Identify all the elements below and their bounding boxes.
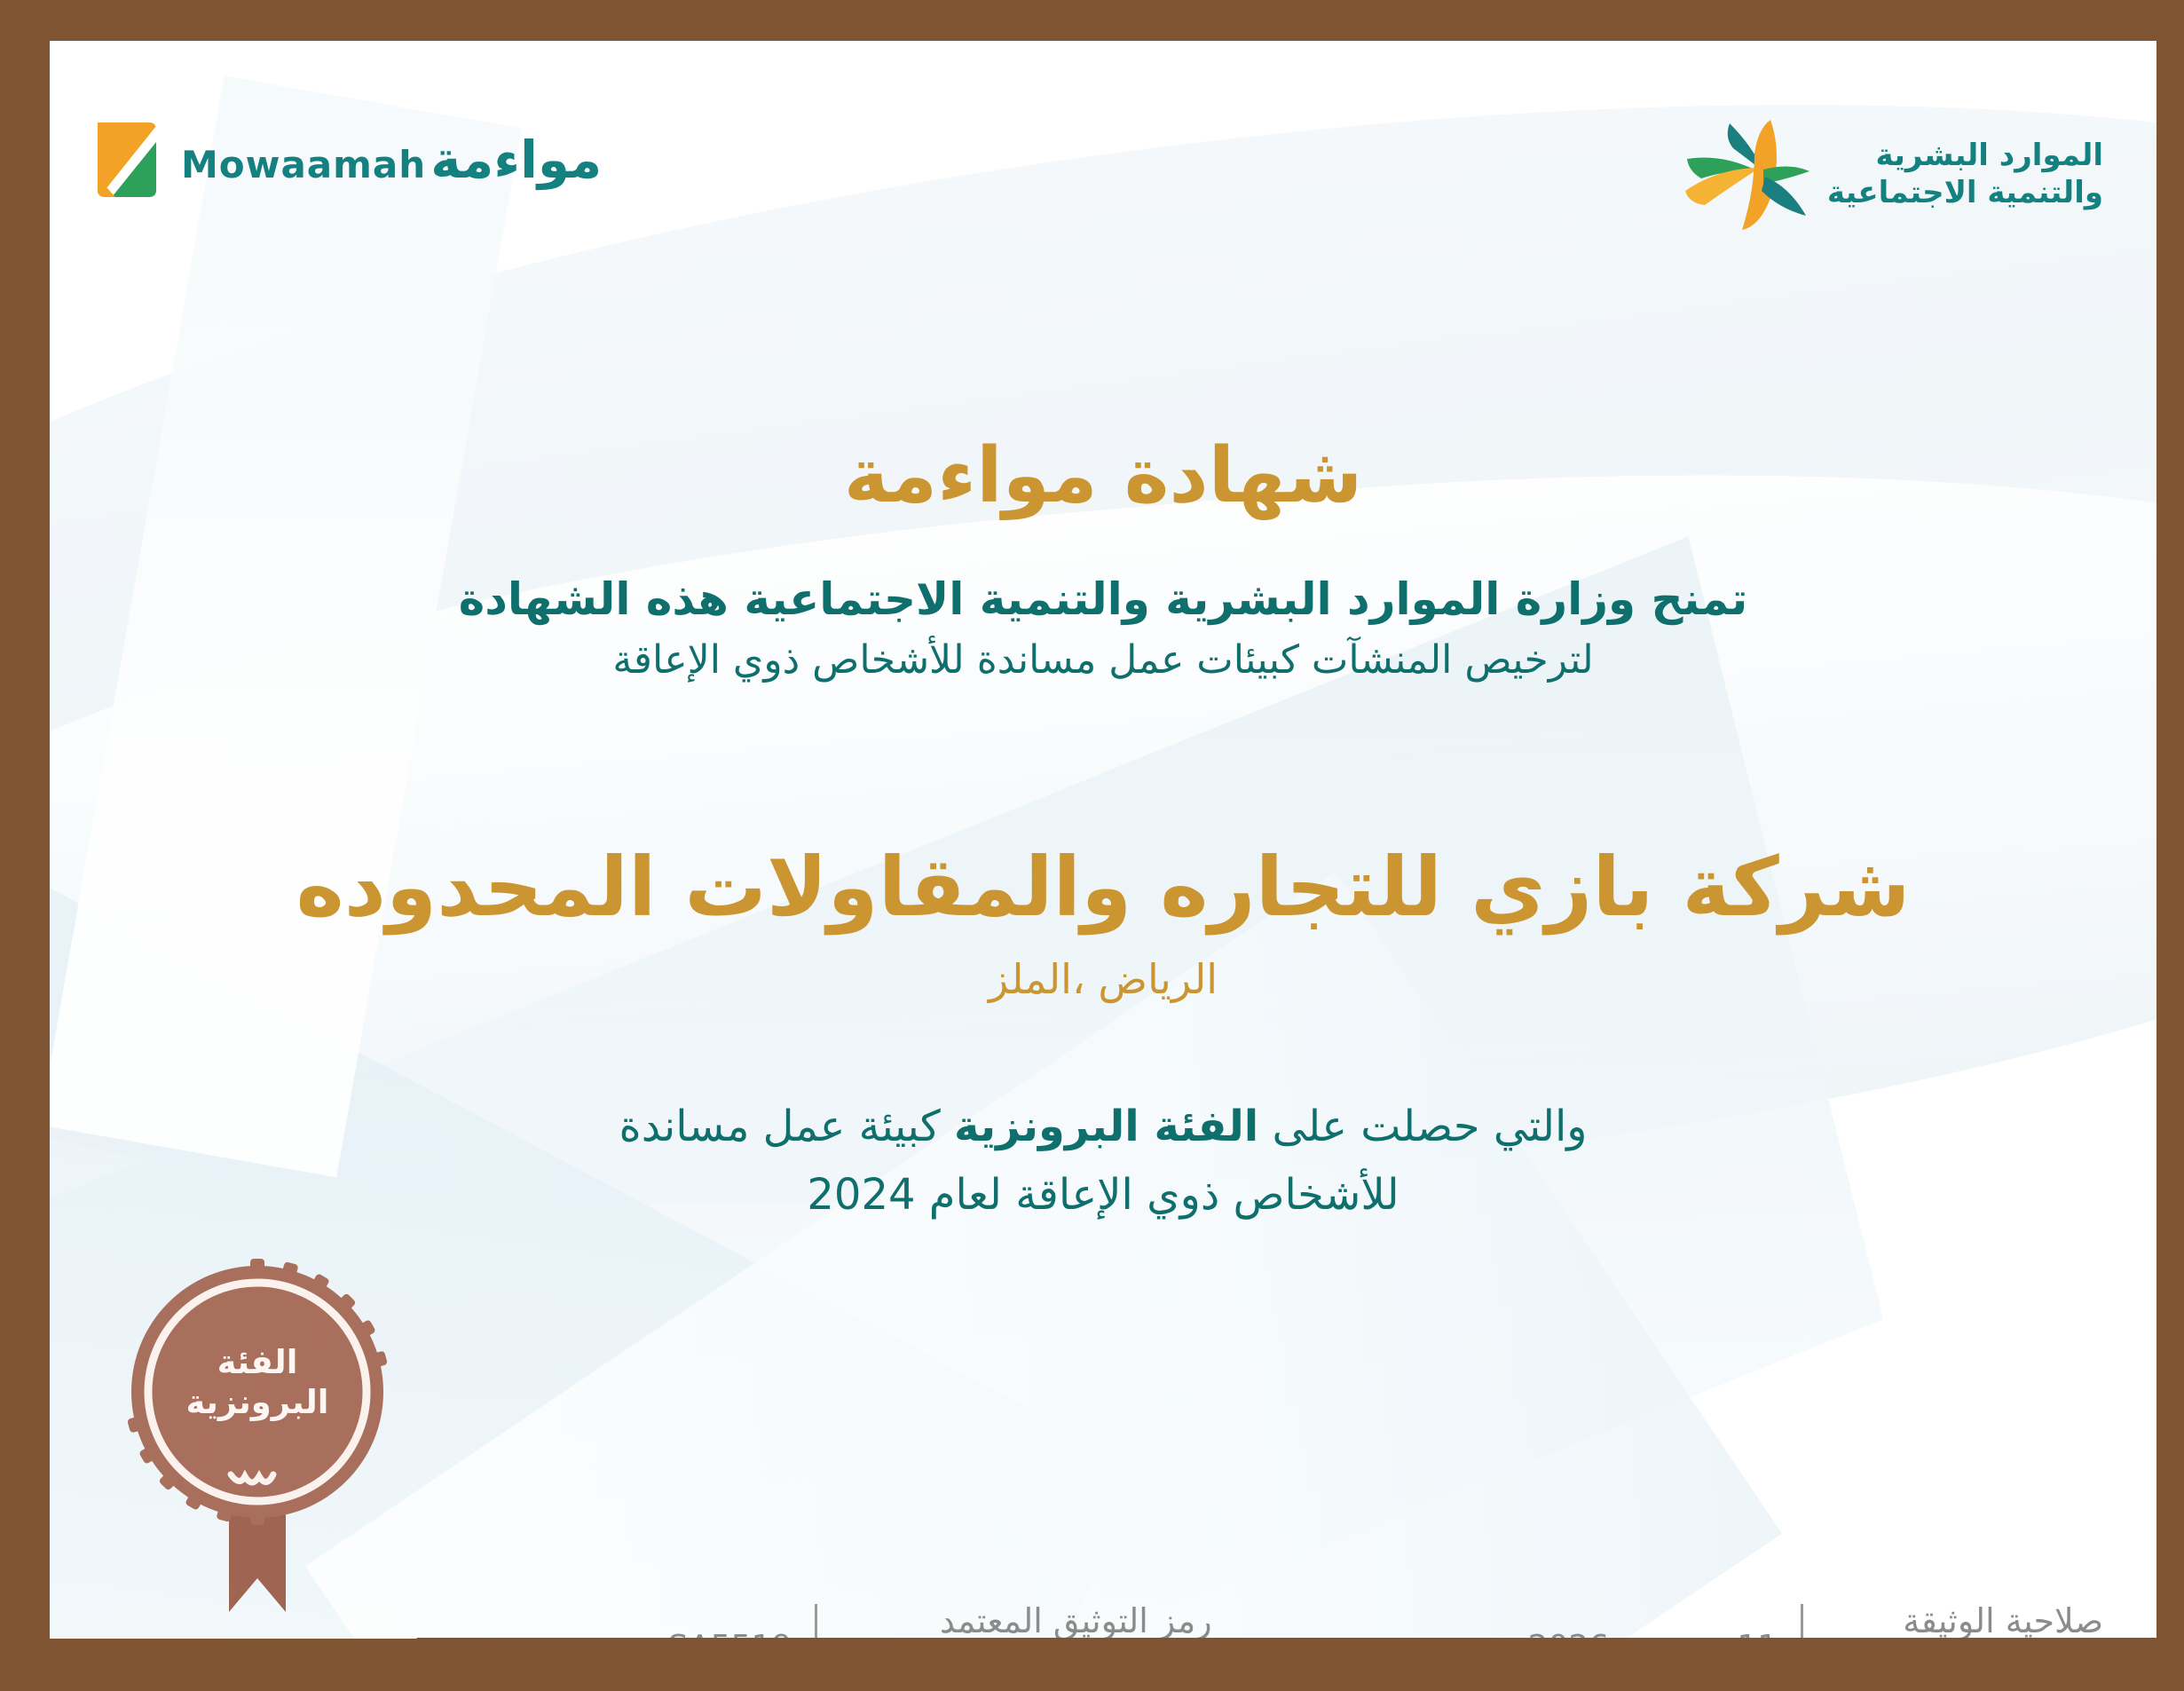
- ministry-wordmark: الموارد البشرية والتنمية الاجتماعية: [1827, 137, 2103, 212]
- document-id-field: رمز التوثيق المعتمد Authorized Document …: [645, 1599, 1212, 1639]
- document-validity-label-ar: صلاحية الوثيقة: [1826, 1599, 2103, 1639]
- mowaamah-arabic-text: مواءمة: [430, 130, 602, 190]
- mowaamah-logo: مواءمة Mowaamah: [85, 112, 602, 208]
- award-statement-line-2: للأشخاص ذوي الإعاقة لعام 2024: [50, 1170, 2156, 1220]
- field-separator: [1801, 1604, 1803, 1639]
- document-validity-labels: صلاحية الوثيقة Document Validity: [1803, 1599, 2103, 1639]
- document-validity-value: 11 ديسمبر، 2026: [1505, 1599, 1802, 1639]
- document-id-label-ar: رمز التوثيق المعتمد: [840, 1599, 1211, 1639]
- ministry-line-2: والتنمية الاجتماعية: [1827, 174, 2103, 212]
- company-city: الرياض ،الملز: [50, 955, 2156, 1003]
- ministry-palm-icon: [1678, 116, 1811, 232]
- mowaamah-wordmark: مواءمة Mowaamah: [181, 134, 602, 186]
- footer-brown-bar: [0, 1638, 2184, 1691]
- ministry-logo: الموارد البشرية والتنمية الاجتماعية: [1678, 116, 2103, 232]
- certificate-title: شهادة مواءمة: [50, 431, 2156, 520]
- mowaamah-mark-icon: [85, 112, 167, 208]
- certificate-page: مواءمة Mowaamah الموارد البشرية والتنمية…: [0, 0, 2184, 1691]
- bronze-category-badge: الفئة البرونزية: [124, 1257, 390, 1621]
- document-id-labels: رمز التوثيق المعتمد Authorized Document …: [817, 1599, 1211, 1639]
- mowaamah-latin-text: Mowaamah: [181, 143, 426, 186]
- award-category-emphasis: الفئة البرونزية: [954, 1102, 1258, 1151]
- ministry-line-1: الموارد البشرية: [1827, 137, 2103, 175]
- grant-statement-line-2: لترخيص المنشآت كبيئات عمل مساندة للأشخاص…: [50, 637, 2156, 683]
- company-name: شركة بازي للتجاره والمقاولات المحدوده: [50, 840, 2156, 935]
- footer-fields: صلاحية الوثيقة Document Validity 11 ديسم…: [50, 1599, 2156, 1639]
- award-prefix: والتي حصلت على: [1258, 1102, 1587, 1151]
- award-statement-line-1: والتي حصلت على الفئة البرونزية كبيئة عمل…: [50, 1102, 2156, 1151]
- header-logos: مواءمة Mowaamah الموارد البشرية والتنمية…: [50, 41, 2156, 307]
- document-id-value: SA5519: [645, 1599, 816, 1639]
- field-separator: [815, 1604, 817, 1639]
- document-validity-field: صلاحية الوثيقة Document Validity 11 ديسم…: [1505, 1599, 2103, 1639]
- grant-statement-line-1: تمنح وزارة الموارد البشرية والتنمية الاج…: [50, 573, 2156, 625]
- certificate-canvas: مواءمة Mowaamah الموارد البشرية والتنمية…: [50, 41, 2156, 1639]
- award-suffix: كبيئة عمل مساندة: [619, 1102, 954, 1151]
